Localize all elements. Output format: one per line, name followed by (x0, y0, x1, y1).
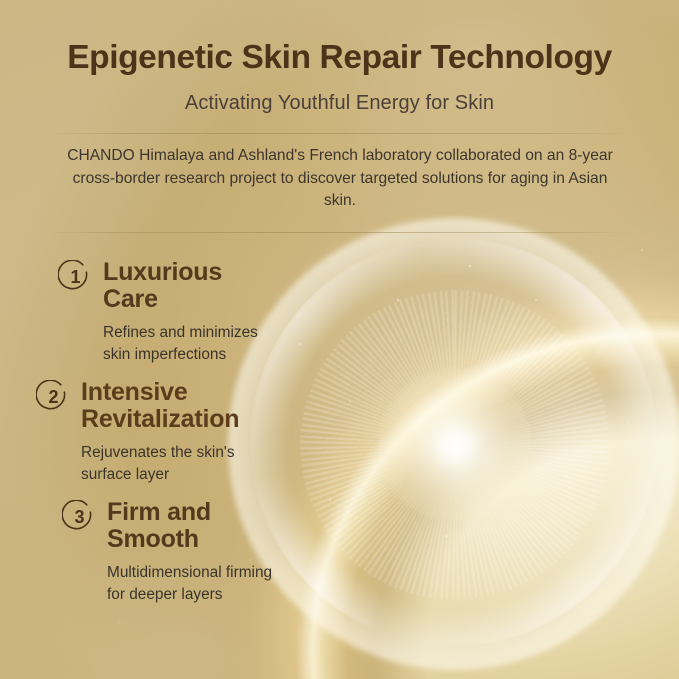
feature-head: 2 Intensive Revitalization (36, 378, 430, 432)
feature-title-line1: Intensive (81, 378, 188, 406)
badge-number-label: 1 (58, 260, 92, 293)
feature-description-line1: Rejuvenates the skin's (81, 444, 235, 461)
number-badge-3: 3 (62, 500, 95, 533)
feature-head: 3 Firm and Smooth (62, 498, 430, 552)
feature-title-line2: Care (103, 285, 158, 313)
feature-description: Rejuvenates the skin's surface layer (36, 442, 430, 486)
badge-number-label: 3 (62, 500, 96, 533)
feature-description-line1: Refines and minimizes (103, 324, 258, 341)
feature-item-firm-and-smooth: 3 Firm and Smooth Multidimensional firmi… (0, 498, 430, 618)
page-title: Epigenetic Skin Repair Technology (0, 40, 679, 77)
product-feature-poster: Epigenetic Skin Repair Technology Activa… (0, 0, 679, 679)
content-overlay: Epigenetic Skin Repair Technology Activa… (0, 0, 679, 679)
feature-title-line1: Luxurious (103, 258, 222, 286)
feature-item-luxurious-care: 1 Luxurious Care Refines and minimizes s… (0, 258, 430, 378)
feature-description-line1: Multidimensional firming (107, 564, 272, 581)
feature-description-line2: skin imperfections (103, 346, 226, 363)
feature-title: Firm and Smooth (107, 498, 211, 552)
page-subtitle: Activating Youthful Energy for Skin (0, 91, 679, 115)
header: Epigenetic Skin Repair Technology Activa… (0, 0, 679, 115)
feature-description-line2: surface layer (81, 466, 169, 483)
feature-title-line2: Smooth (107, 525, 199, 553)
feature-description: Multidimensional firming for deeper laye… (62, 562, 430, 606)
intro-paragraph: CHANDO Himalaya and Ashland's French lab… (60, 145, 620, 213)
feature-title-line1: Firm and (107, 498, 211, 526)
feature-description-line2: for deeper layers (107, 586, 223, 603)
feature-description: Refines and minimizes skin imperfections (58, 322, 430, 366)
badge-number-label: 2 (36, 380, 70, 413)
number-badge-1: 1 (58, 260, 91, 293)
feature-title-line2: Revitalization (81, 405, 239, 433)
feature-item-intensive-revitalization: 2 Intensive Revitalization Rejuvenates t… (0, 378, 430, 498)
feature-head: 1 Luxurious Care (58, 258, 430, 312)
divider-top (46, 133, 634, 134)
intro-block: CHANDO Himalaya and Ashland's French lab… (60, 145, 620, 213)
feature-title: Intensive Revitalization (81, 378, 239, 432)
number-badge-2: 2 (36, 380, 69, 413)
feature-list: 1 Luxurious Care Refines and minimizes s… (0, 258, 430, 618)
feature-title: Luxurious Care (103, 258, 222, 312)
divider-bottom (46, 232, 634, 233)
